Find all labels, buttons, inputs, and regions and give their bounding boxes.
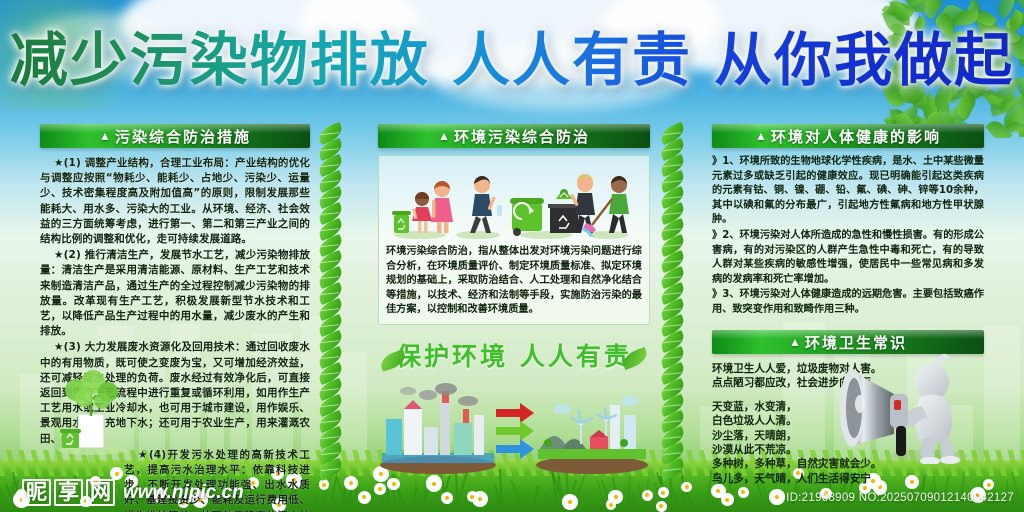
prevention-card: 环境污染综合防治，指从整体出发对环境污染问题进行综合分析，在环境质量评价、制定环…: [378, 155, 650, 325]
triangle-marker-icon: ▲: [99, 129, 111, 143]
daisy-flower: [360, 493, 369, 502]
daisy-flower: [683, 484, 689, 490]
daisy-center: [659, 504, 663, 508]
triangle-marker-icon: ▲: [755, 129, 767, 143]
daisy-flower: [469, 493, 475, 499]
daisy-center: [568, 500, 572, 504]
watermark-logo: 昵 享 网: [22, 479, 115, 506]
daisy-center: [661, 491, 665, 495]
health-effects-body: 》1、环境所致的生物地球化学性疾病，是水、土中某些微量元素过多或缺乏引起的健康效…: [712, 155, 984, 318]
daisy-center: [322, 483, 326, 487]
daisy-flower: [740, 489, 747, 496]
panel-hygiene-knowledge: ▲ 环境卫生常识 环境卫生人人爱，垃圾废物对人害。 点点陋习都应改，社会进步向前…: [712, 330, 984, 466]
section-header-title: 环境对人体健康的影响: [771, 126, 941, 147]
recycling-tree-illustration: [46, 370, 138, 456]
daisy-flower: [346, 478, 356, 488]
people-recycling-illustration: [386, 163, 642, 241]
triangle-marker-icon: ▲: [789, 335, 801, 349]
verse-line: 鸟儿多，天气晴，人们生活得安宁: [712, 472, 890, 486]
daisy-center: [392, 482, 396, 486]
section-header-title: 环境污染综合防治: [454, 126, 590, 147]
grass-blade: [510, 480, 525, 512]
daisy-center: [725, 498, 729, 502]
list-item: 》1、环境所致的生物地球化学性疾病，是水、土中某些微量元素过多或缺乏引起的健康效…: [712, 155, 984, 228]
section-header-title: 环境卫生常识: [805, 332, 907, 353]
daisy-flower: [660, 489, 667, 496]
city-transformation-illustration: [378, 379, 650, 477]
watermark-char: 享: [54, 479, 83, 506]
daisy-flower: [608, 501, 614, 507]
polluted-city: [380, 383, 496, 474]
grass-blade: [531, 486, 539, 512]
poster-root: 减少污染物排放 人人有责 从你我做起 ▲ 污染综合防治措施 ★(1) 调整产业结…: [0, 0, 1024, 512]
megaphone-mascot-illustration: [832, 342, 982, 464]
panel-pollution-measures: ▲ 污染综合防治措施 ★(1) 调整产业结构，合理工业布局：产业结构的优化与调整…: [40, 124, 310, 464]
daisy-center: [716, 489, 720, 493]
daisy-center: [445, 496, 449, 500]
watermark-char: 昵: [22, 479, 51, 506]
slogan-protect-environment: 保护环境 人人有责: [378, 337, 650, 373]
daisy-center: [478, 497, 482, 501]
daisy-flower: [443, 494, 451, 502]
slogan-text: 保护环境 人人有责: [396, 342, 632, 371]
image-id-line: ID:21938909 NO:20250709012140042127: [786, 492, 1014, 504]
daisy-flower: [985, 481, 992, 488]
daisy-center: [775, 495, 779, 499]
watermark-char: 网: [86, 479, 115, 506]
pollution-measures-body: ★(1) 调整产业结构，合理工业布局：产业结构的优化与调整应按照“物耗少、能耗少…: [40, 156, 310, 512]
daisy-center: [863, 486, 867, 490]
daisy-center: [470, 495, 474, 499]
transition-arrows: [496, 403, 534, 459]
page-title-text: 减少污染物排放 人人有责 从你我做起: [10, 26, 1014, 94]
daisy-flower: [428, 477, 440, 489]
daisy-flower: [771, 491, 783, 503]
grass-blade: [464, 497, 468, 512]
daisy-center: [362, 495, 366, 499]
grass-blade: [745, 496, 751, 512]
daisy-center: [378, 487, 382, 491]
daisy-center: [432, 482, 436, 486]
grass-blade: [414, 479, 417, 512]
section-header-title: 污染综合防治措施: [115, 126, 251, 147]
list-item: 》3、环境污染对人体健康造成的远期危害。主要包括致癌作用、致突变作用和致畸作用三…: [712, 288, 984, 317]
daisy-flower: [907, 477, 917, 487]
daisy-flower: [376, 485, 384, 493]
section-header-pollution-measures: ▲ 污染综合防治措施: [40, 124, 310, 148]
daisy-center: [349, 481, 353, 485]
daisy-center: [645, 493, 649, 497]
daisy-center: [609, 503, 613, 507]
watermark-url: www.nipic.cn: [123, 482, 244, 504]
list-item: 》2、环境污染对人体所造成的急性和慢性损害。有的形成公害病，有的对污染区的人群产…: [712, 229, 984, 287]
page-title: 减少污染物排放 人人有责 从你我做起: [0, 30, 1024, 91]
daisy-flower: [723, 495, 732, 504]
daisy-center: [741, 490, 745, 494]
daisy-flower: [713, 486, 724, 497]
panel-health-effects: ▲ 环境对人体健康的影响 》1、环境所致的生物地球化学性疾病，是水、土中某些微量…: [712, 124, 984, 324]
panel-comprehensive-prevention: ▲ 环境污染综合防治: [378, 124, 650, 464]
daisy-center: [685, 485, 689, 489]
daisy-flower: [474, 493, 486, 505]
paragraph: ★(2) 推行清洁生产，发展节水工艺，减少污染物排放量：清洁生产是采用清洁能源、…: [40, 248, 310, 339]
watermark: 昵 享 网 www.nipic.cn: [22, 479, 244, 506]
grass-blade: [333, 497, 338, 512]
section-header-comprehensive-prevention: ▲ 环境污染综合防治: [378, 124, 650, 148]
grass-blade: [632, 495, 639, 512]
daisy-flower: [564, 496, 576, 508]
daisy-flower: [658, 503, 665, 510]
leaf-divider: [660, 126, 686, 474]
daisy-center: [910, 480, 914, 484]
paragraph: ★(1) 调整产业结构，合理工业布局：产业结构的优化与调整应按照“物耗少、能耗少…: [40, 156, 310, 247]
daisy-center: [987, 483, 991, 487]
building-silhouette: [984, 326, 1020, 460]
prevention-paragraph: 环境污染综合防治，指从整体出发对环境污染问题进行综合分析，在环境质量评价、制定环…: [386, 245, 642, 318]
leaf-divider: [318, 126, 344, 474]
daisy-center: [614, 495, 618, 499]
green-city: [536, 396, 648, 474]
triangle-marker-icon: ▲: [438, 129, 450, 143]
section-header-health-effects: ▲ 环境对人体健康的影响: [712, 124, 984, 148]
grass-blade: [1021, 495, 1023, 512]
grass-blade: [0, 471, 7, 512]
grass-blade: [369, 490, 373, 512]
daisy-flower: [644, 492, 651, 499]
